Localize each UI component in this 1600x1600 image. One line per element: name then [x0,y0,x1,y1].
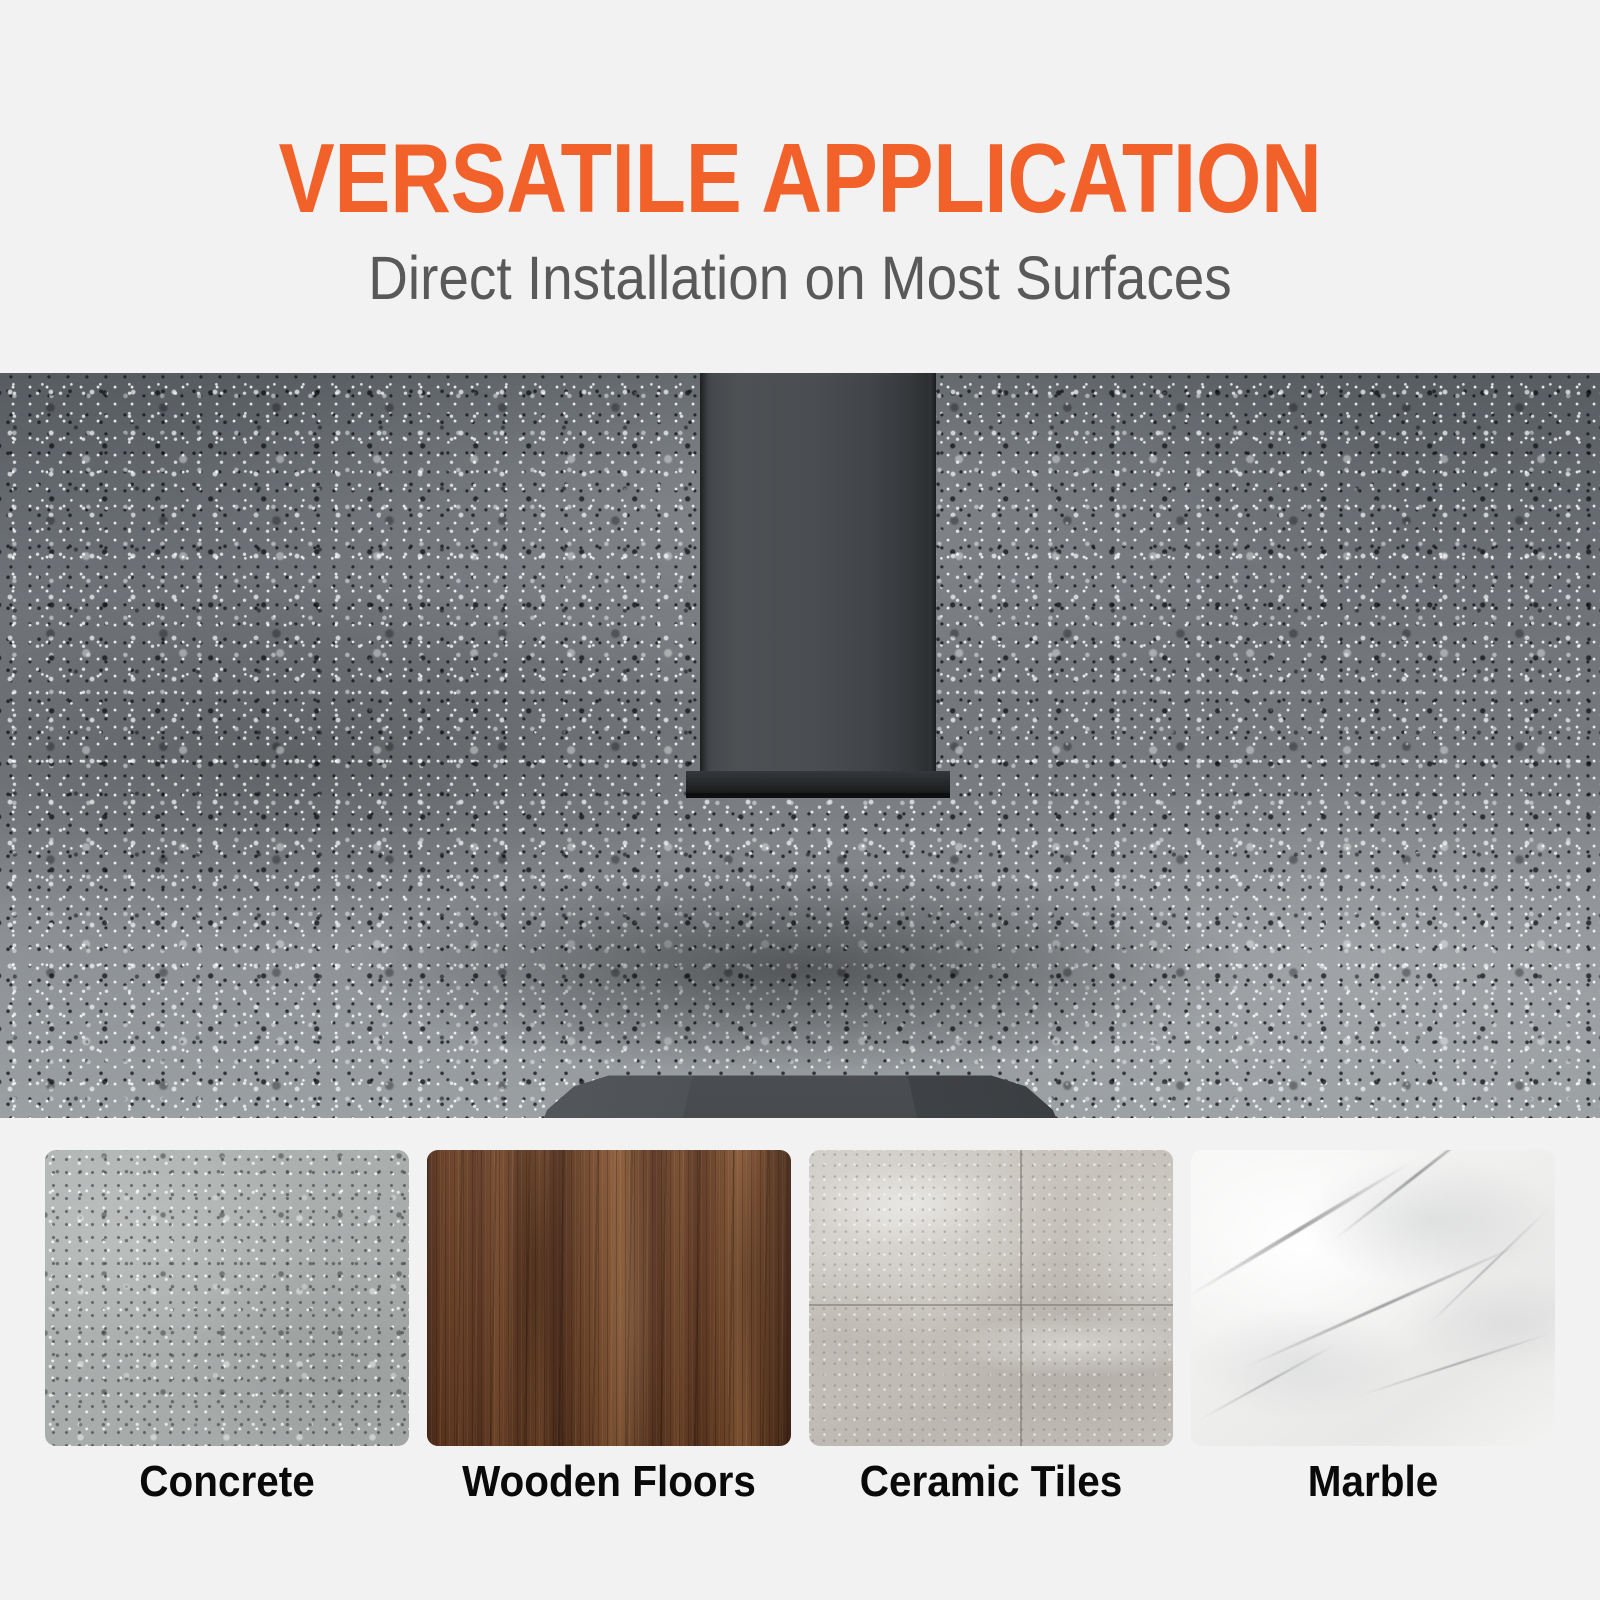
post-left-edge-bevel [700,373,707,786]
tile-grout-line-horizontal [809,1304,1173,1306]
product-feature-card: VERSATILE APPLICATION Direct Installatio… [0,0,1600,1600]
swatch-ceramic-tiles[interactable] [809,1150,1173,1446]
marble-tonal-haze [1191,1150,1555,1446]
vertical-post [700,373,936,786]
hero-product-photo [0,373,1600,1118]
swatch-concrete[interactable] [45,1150,409,1446]
surface-swatch-row [45,1150,1555,1446]
tile-grout-line-vertical [1020,1150,1022,1446]
caption-marble: Marble [1206,1455,1541,1509]
page-subtitle: Direct Installation on Most Surfaces [80,243,1520,313]
caption-concrete: Concrete [60,1455,395,1509]
tile-grain-speckle [809,1150,1173,1446]
page-title: VERSATILE APPLICATION [112,126,1488,230]
caption-ceramic-tiles: Ceramic Tiles [824,1455,1159,1509]
header-banner: VERSATILE APPLICATION Direct Installatio… [0,0,1600,373]
swatch-wooden-floors[interactable] [427,1150,791,1446]
post-base-assembly [0,373,1600,1118]
post-right-edge-bevel [929,373,936,786]
wood-tonal-variation [427,1150,791,1446]
swatch-marble[interactable] [1191,1150,1555,1446]
post-collar-shadow-line [686,793,950,798]
caption-wooden-floors: Wooden Floors [442,1455,777,1509]
concrete-grit-coarse [45,1150,409,1446]
surface-caption-row: Concrete Wooden Floors Ceramic Tiles Mar… [45,1455,1555,1509]
